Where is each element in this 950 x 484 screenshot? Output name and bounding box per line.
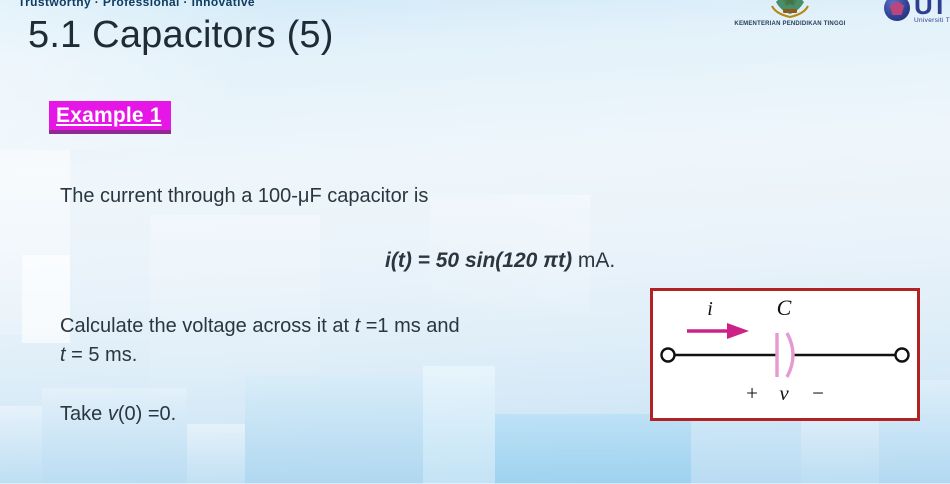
ministry-label: KEMENTERIAN PENDIDIKAN TINGGI <box>710 21 870 27</box>
problem-statement-line-1: The current through a 100-μF capacitor i… <box>60 182 428 211</box>
polarity-minus-label: − <box>812 381 824 405</box>
line4-suffix: (0) =0. <box>118 403 176 425</box>
equation-italic-part: i(t) = 50 sin(120 πt) <box>385 249 572 272</box>
terminal-right-icon <box>896 349 909 362</box>
variable-v: v <box>108 403 118 425</box>
problem-statement-line-3: Take v(0) =0. <box>60 400 176 429</box>
polarity-plus-label: + <box>746 381 758 405</box>
university-wordmark-text: UT <box>914 0 950 18</box>
skyline-column <box>423 366 495 484</box>
capacitor-label: C <box>777 295 792 320</box>
line2-suffix: =1 ms and <box>360 315 460 337</box>
banner-logos: KEMENTERIAN PENDIDIKAN TINGGI UT Univers… <box>710 0 950 27</box>
equation-units: mA. <box>572 249 615 272</box>
line3-suffix: = 5 ms. <box>66 344 138 366</box>
university-wordmark: UT Universiti T <box>914 0 950 25</box>
skyline-column <box>801 420 879 484</box>
line2-prefix: Calculate the voltage across it at <box>60 315 355 337</box>
voltage-label: v <box>779 381 789 405</box>
circuit-diagram-svg: i C + v − <box>653 291 917 418</box>
ministry-crest-icon <box>766 0 814 20</box>
line4-prefix: Take <box>60 403 108 425</box>
ministry-logo: KEMENTERIAN PENDIDIKAN TINGGI <box>710 0 870 27</box>
capacitor-plate-curved-icon <box>787 333 793 377</box>
banner-tagline: Trustworthy · Professional · Innovative <box>18 0 255 9</box>
current-label: i <box>707 298 713 320</box>
university-crest-icon <box>884 0 910 21</box>
skyline-column <box>0 406 42 484</box>
background-block-left <box>0 150 70 335</box>
university-subtext: Universiti T <box>914 18 950 25</box>
skyline-column <box>245 376 423 484</box>
circuit-diagram: i C + v − <box>650 288 920 421</box>
current-equation: i(t) = 50 sin(120 πt) mA. <box>385 246 615 276</box>
problem-statement-line-2: Calculate the voltage across it at t =1 … <box>60 312 530 370</box>
skyline-column <box>187 424 245 484</box>
skyline-column <box>495 414 691 484</box>
slide-canvas: Trustworthy · Professional · Innovative … <box>0 0 950 484</box>
university-logo: UT Universiti T <box>884 0 950 25</box>
current-arrow-head-icon <box>727 323 749 339</box>
page-title: 5.1 Capacitors (5) <box>28 14 334 57</box>
terminal-left-icon <box>662 349 675 362</box>
example-badge-label: Example 1 <box>56 104 162 127</box>
example-badge: Example 1 <box>49 101 171 134</box>
